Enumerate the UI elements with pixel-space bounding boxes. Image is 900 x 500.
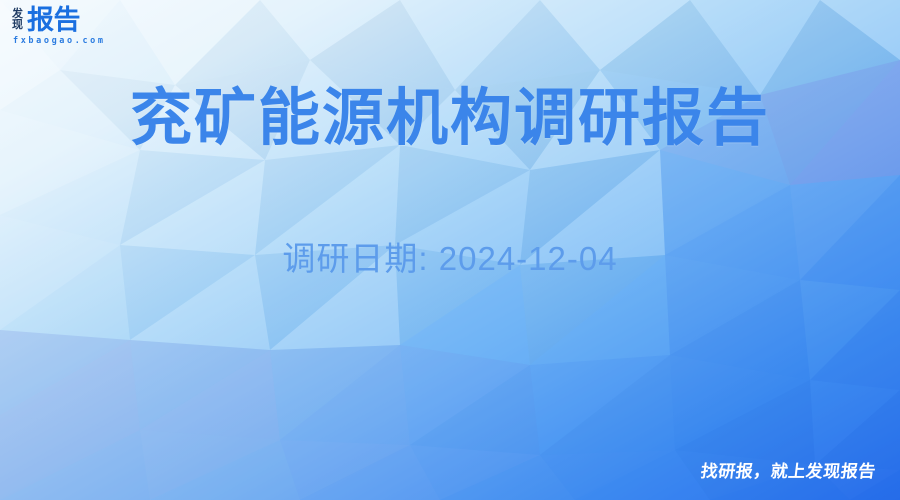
logo-stack-bottom: 现 (12, 20, 23, 31)
title-block: 兖矿能源机构调研报告 (0, 86, 900, 151)
survey-date-subtitle: 调研日期: 2024-12-04 (0, 232, 900, 280)
logo-domain-text: fxbaogao.com (13, 36, 106, 46)
site-logo[interactable]: 发 现 报告 fxbaogao.com (12, 8, 106, 46)
report-cover-slide: 发 现 报告 fxbaogao.com 兖矿能源机构调研报告 调研日期: 202… (0, 0, 900, 500)
footer-tagline: 找研报，就上发现报告 (699, 457, 877, 482)
logo-row: 发 现 报告 (12, 8, 80, 34)
logo-wordmark: 报告 (27, 8, 80, 34)
logo-stacked-characters: 发 现 (12, 9, 23, 33)
page-title: 兖矿能源机构调研报告 (0, 86, 900, 151)
